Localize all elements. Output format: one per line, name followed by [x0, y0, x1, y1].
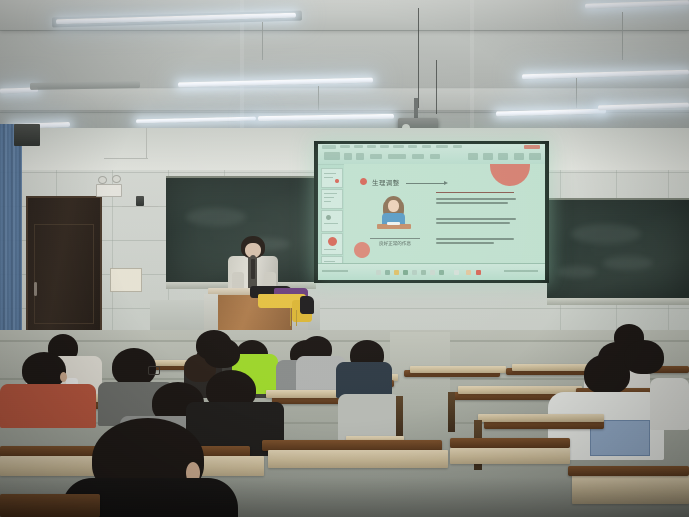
wall-conduit — [146, 128, 147, 158]
eyeglasses — [148, 366, 160, 375]
slide-title: 生理调整 — [372, 177, 400, 187]
wall-speaker — [14, 124, 40, 146]
taskbar-icon[interactable] — [439, 270, 444, 275]
draped-jacket-dark — [300, 296, 314, 314]
desk-bench-back — [568, 466, 689, 476]
projector-cable — [436, 60, 437, 114]
taskbar-icon[interactable] — [466, 270, 471, 275]
taskbar-icon[interactable] — [476, 270, 481, 275]
caption-rule — [370, 238, 420, 239]
wall-conduit — [104, 158, 148, 159]
taskbar-icon[interactable] — [394, 270, 399, 275]
taskbar-icon[interactable] — [403, 270, 408, 275]
desk-bench-back — [0, 494, 100, 517]
taskbar-icon[interactable] — [412, 270, 417, 275]
light-switch-panel[interactable] — [110, 268, 142, 292]
desk-surface — [478, 414, 604, 422]
close-window-button[interactable] — [524, 145, 540, 149]
title-underline — [406, 183, 444, 184]
slide-thumbnail[interactable] — [321, 168, 343, 188]
student-body — [336, 362, 392, 398]
ceiling-knob — [98, 176, 107, 184]
desk-surface — [410, 366, 506, 373]
jacket-drawstring — [290, 308, 291, 326]
desk-surface — [268, 450, 448, 468]
door-handle[interactable] — [34, 282, 37, 296]
student-body-orange-shirt — [0, 384, 96, 428]
desk-side-panel — [448, 392, 455, 432]
wall-conduit — [122, 206, 158, 207]
student-body — [338, 394, 400, 442]
desk-surface — [450, 448, 570, 464]
wall-outlet[interactable] — [96, 184, 122, 197]
projection-screen: 生理调整 良好正常的作息 — [318, 144, 545, 280]
fluorescent-tube-light — [136, 117, 256, 124]
wall-bracket — [136, 196, 144, 206]
fluorescent-tube-light — [522, 70, 689, 80]
slide-canvas: 生理调整 良好正常的作息 — [344, 164, 545, 264]
projector-cable — [418, 8, 419, 108]
slide-thumbnail[interactable] — [321, 189, 343, 209]
student-illustration — [374, 196, 414, 232]
taskbar-icon[interactable] — [385, 270, 390, 275]
ceiling-knob — [112, 175, 121, 183]
fluorescent-tube-light — [258, 114, 394, 121]
student-body — [650, 378, 689, 430]
circle-decoration — [354, 242, 370, 258]
ceiling — [0, 0, 689, 132]
slide-paragraph — [436, 198, 516, 206]
student-head — [204, 338, 240, 368]
blackboard-right — [547, 198, 689, 300]
desktop-taskbar[interactable] — [318, 263, 545, 280]
slide-thumbnail[interactable] — [321, 210, 343, 232]
projector-mount-pole — [414, 98, 418, 120]
body-divider — [436, 192, 514, 193]
student-head — [624, 340, 664, 374]
jacket-drawstring — [296, 310, 297, 326]
slide-thumbnail-panel[interactable] — [318, 164, 345, 264]
semicircle-decoration — [490, 164, 530, 186]
window-curtain — [0, 124, 22, 334]
slide-thumbnail[interactable] — [321, 233, 343, 255]
taskbar-icon[interactable] — [430, 270, 435, 275]
desk-bench-back — [450, 438, 570, 448]
desk-surface — [572, 474, 689, 504]
title-bullet-icon — [360, 178, 367, 185]
microphone[interactable] — [251, 259, 255, 279]
classroom-door[interactable] — [26, 196, 102, 334]
taskbar-icon[interactable] — [376, 270, 381, 275]
student-head — [22, 352, 66, 388]
fluorescent-tube-light — [178, 78, 373, 88]
illustration-caption: 良好正常的作息 — [370, 241, 420, 247]
presentation-toolbar-ribbon[interactable] — [318, 144, 545, 165]
slide-paragraph — [436, 218, 516, 226]
slide-paragraph — [436, 238, 516, 246]
classroom-photo-scene: 生理调整 良好正常的作息 — [0, 0, 689, 517]
title-arrow-icon — [444, 181, 448, 185]
taskbar-icon[interactable] — [454, 270, 459, 275]
chalk-tray-right — [547, 298, 689, 305]
desk-side-panel — [396, 396, 403, 440]
taskbar-icon[interactable] — [421, 270, 426, 275]
